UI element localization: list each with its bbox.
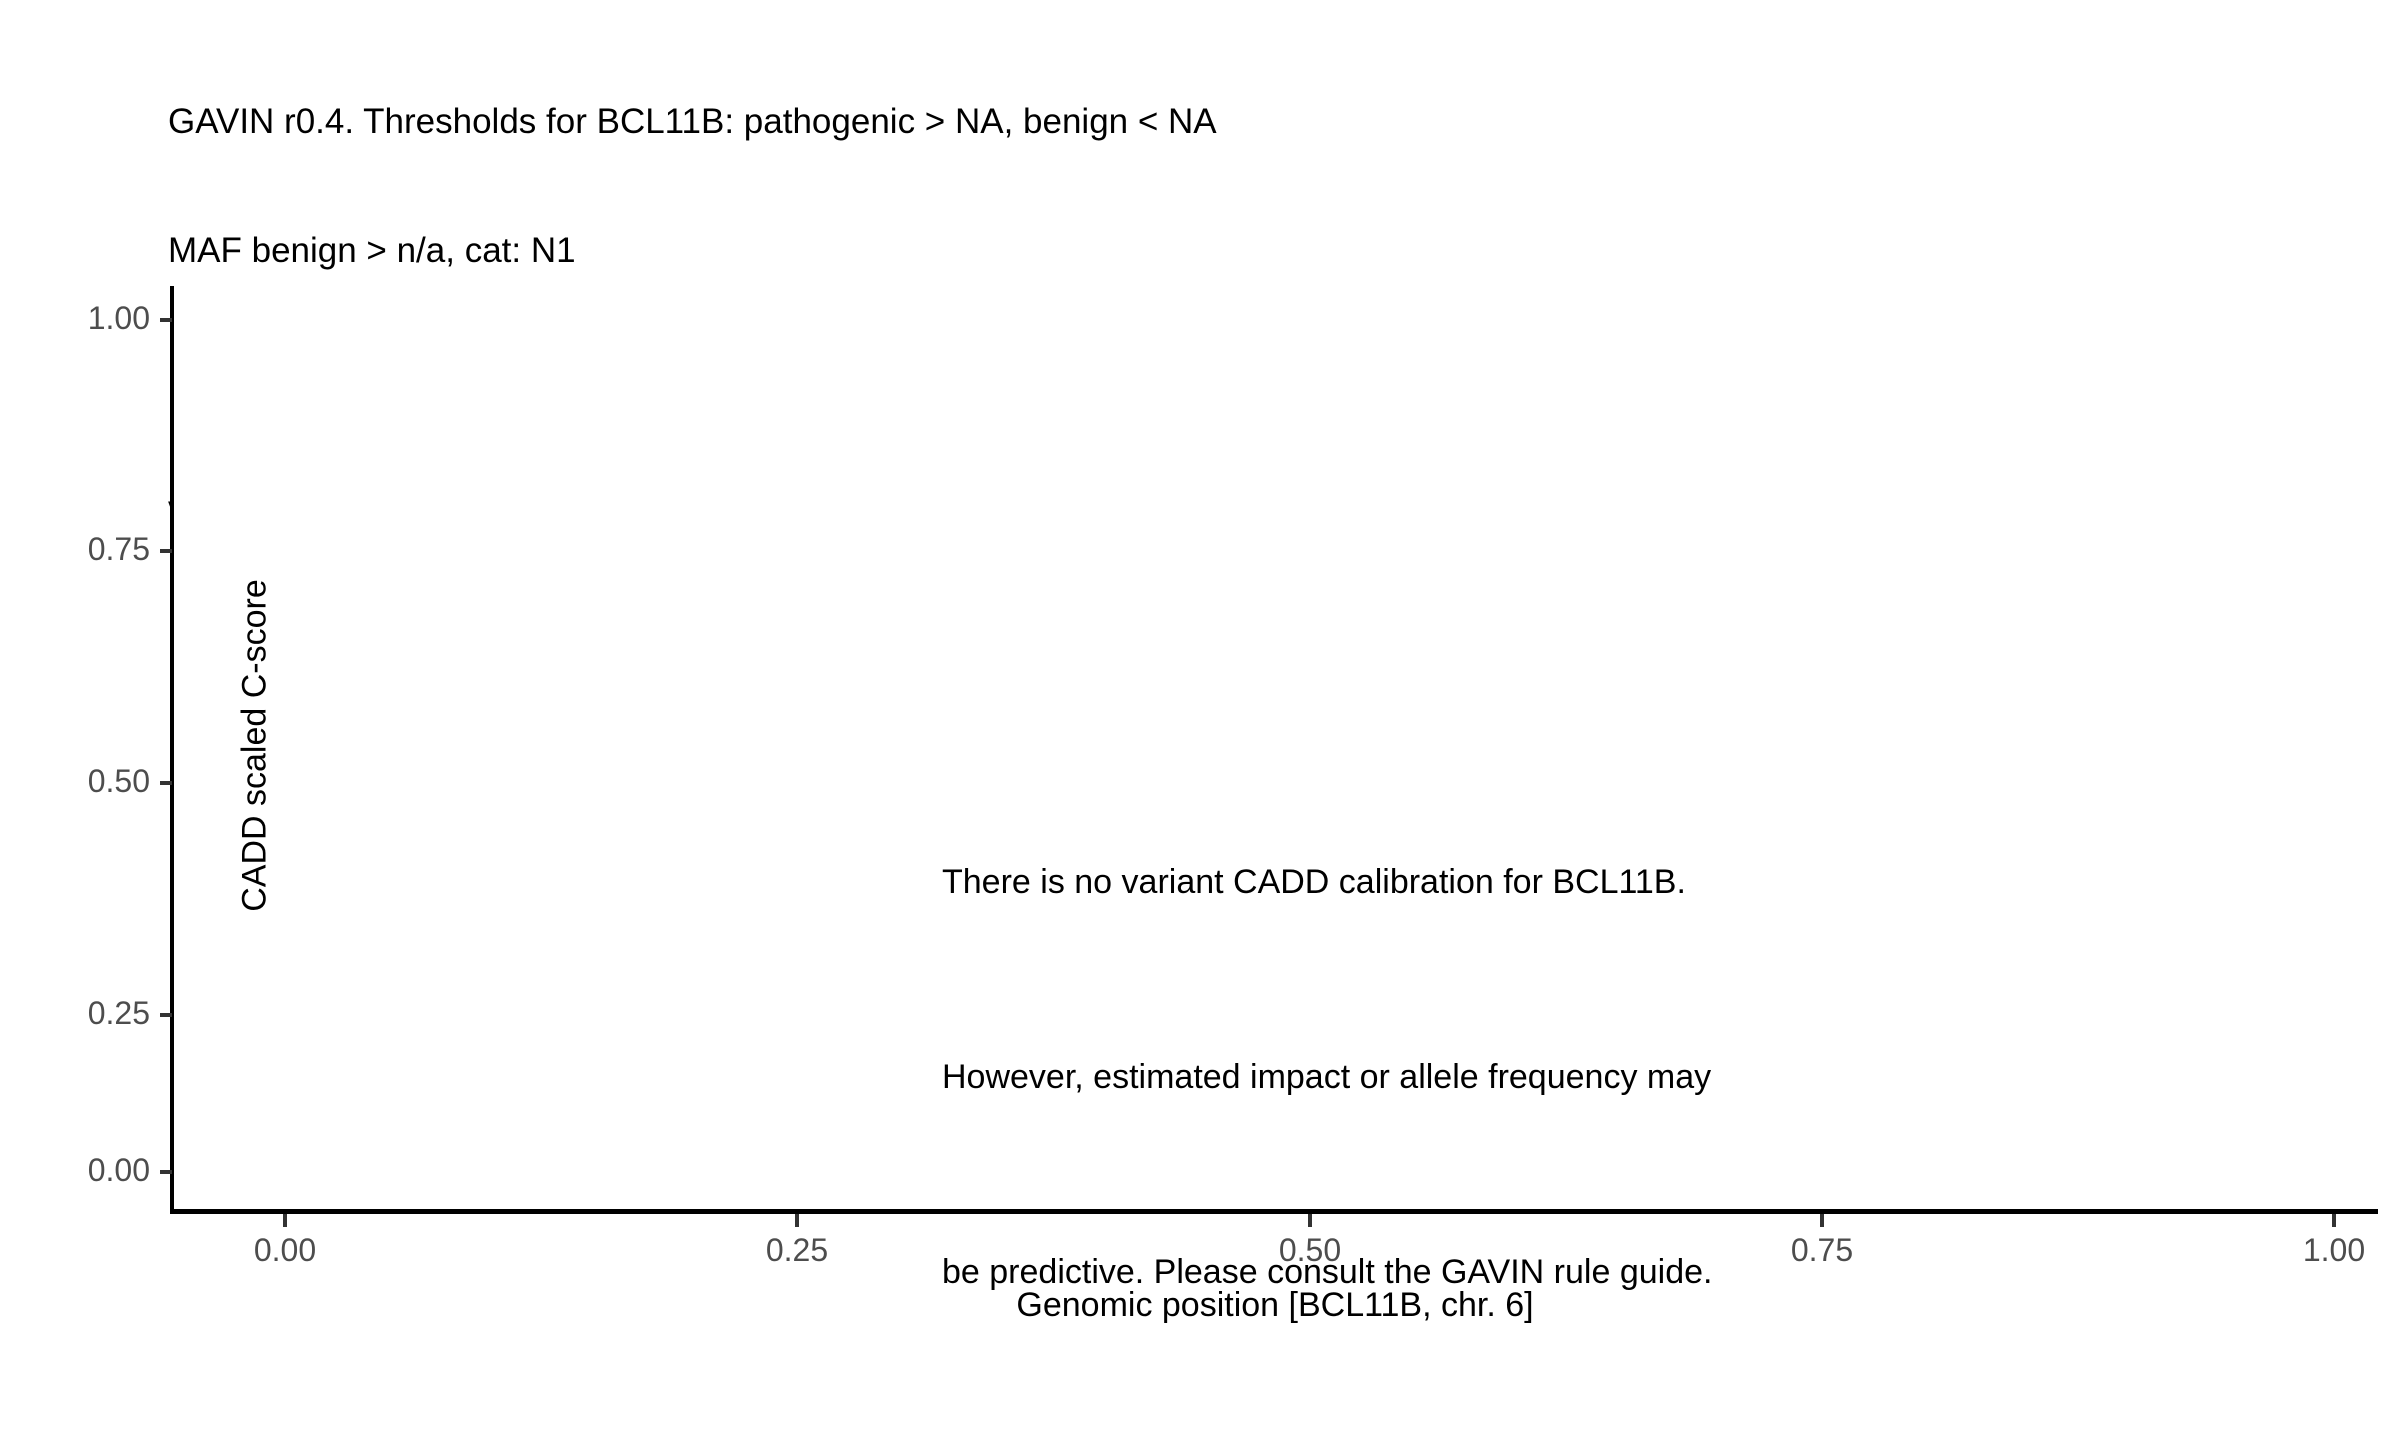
- y-tick-mark: [160, 318, 172, 322]
- y-tick-label: 1.00: [88, 300, 150, 337]
- y-tick-mark: [160, 549, 172, 553]
- chart-canvas: GAVIN r0.4. Thresholds for BCL11B: patho…: [0, 0, 2400, 1350]
- y-axis-line: [170, 286, 174, 1214]
- y-tick-label: 0.75: [88, 531, 150, 568]
- title-line-1: GAVIN r0.4. Thresholds for BCL11B: patho…: [168, 100, 2268, 143]
- y-tick-mark: [160, 1170, 172, 1174]
- x-tick-mark: [795, 1214, 799, 1227]
- title-line-2: MAF benign > n/a, cat: N1: [168, 229, 2268, 272]
- y-tick-label: 0.25: [88, 995, 150, 1032]
- x-axis-line: [170, 1209, 2378, 1214]
- empty-panel-annotation: There is no variant CADD calibration for…: [942, 720, 1952, 1435]
- plot-panel: There is no variant CADD calibration for…: [172, 288, 2378, 1212]
- y-tick-label: 0.00: [88, 1152, 150, 1189]
- annotation-line-2: However, estimated impact or allele freq…: [942, 1045, 1952, 1110]
- x-tick-label: 0.50: [1200, 1232, 1420, 1269]
- y-tick-mark: [160, 1013, 172, 1017]
- x-tick-mark: [1308, 1214, 1312, 1227]
- x-tick-label: 0.00: [175, 1232, 395, 1269]
- x-tick-label: 0.75: [1712, 1232, 1932, 1269]
- y-axis-title: CADD scaled C-score: [236, 281, 275, 1211]
- x-axis-title: Genomic position [BCL11B, chr. 6]: [172, 1286, 2378, 1325]
- x-tick-mark: [2332, 1214, 2336, 1227]
- annotation-line-1: There is no variant CADD calibration for…: [942, 850, 1952, 915]
- x-tick-label: 1.00: [2224, 1232, 2400, 1269]
- x-tick-mark: [283, 1214, 287, 1227]
- y-tick-label: 0.50: [88, 763, 150, 800]
- y-tick-mark: [160, 781, 172, 785]
- x-tick-mark: [1820, 1214, 1824, 1227]
- x-tick-label: 0.25: [687, 1232, 907, 1269]
